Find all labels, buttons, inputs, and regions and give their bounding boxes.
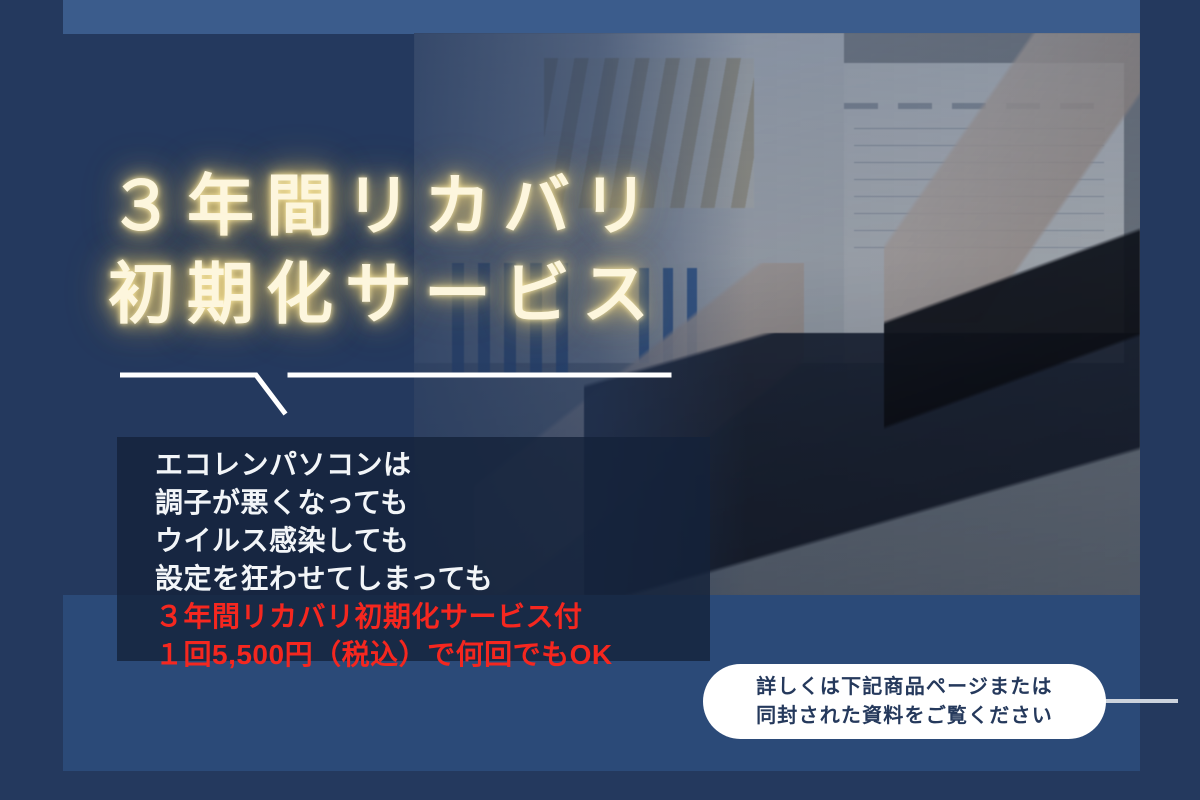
callout-pill[interactable]: 詳しくは下記商品ページまたは 同封された資料をご覧ください — [703, 664, 1106, 739]
pill-line-2: 同封された資料をご覧ください — [756, 702, 1053, 731]
copy-line: 設定を狂わせてしまっても — [155, 560, 613, 598]
copy-box: エコレンパソコンは 調子が悪くなっても ウイルス感染しても 設定を狂わせてしまっ… — [117, 437, 710, 661]
background-left-edge — [0, 0, 63, 800]
copy-line-accent: ３年間リカバリ初期化サービス付 — [155, 598, 613, 636]
copy-line: 調子が悪くなっても — [155, 484, 613, 522]
promo-banner: ３年間リカバリ 初期化サービス エコレンパソコンは 調子が悪くなっても ウイルス… — [0, 0, 1200, 800]
copy-list: エコレンパソコンは 調子が悪くなっても ウイルス感染しても 設定を狂わせてしまっ… — [155, 446, 613, 674]
background-top-band — [63, 0, 1140, 34]
copy-line: エコレンパソコンは — [155, 446, 613, 484]
pill-tail-line — [1098, 699, 1178, 703]
background-right-edge — [1140, 0, 1200, 800]
copy-line-accent: １回5,500円（税込）で何回でもOK — [155, 636, 613, 674]
pill-line-1: 詳しくは下記商品ページまたは — [756, 673, 1052, 702]
copy-line: ウイルス感染しても — [155, 522, 613, 560]
